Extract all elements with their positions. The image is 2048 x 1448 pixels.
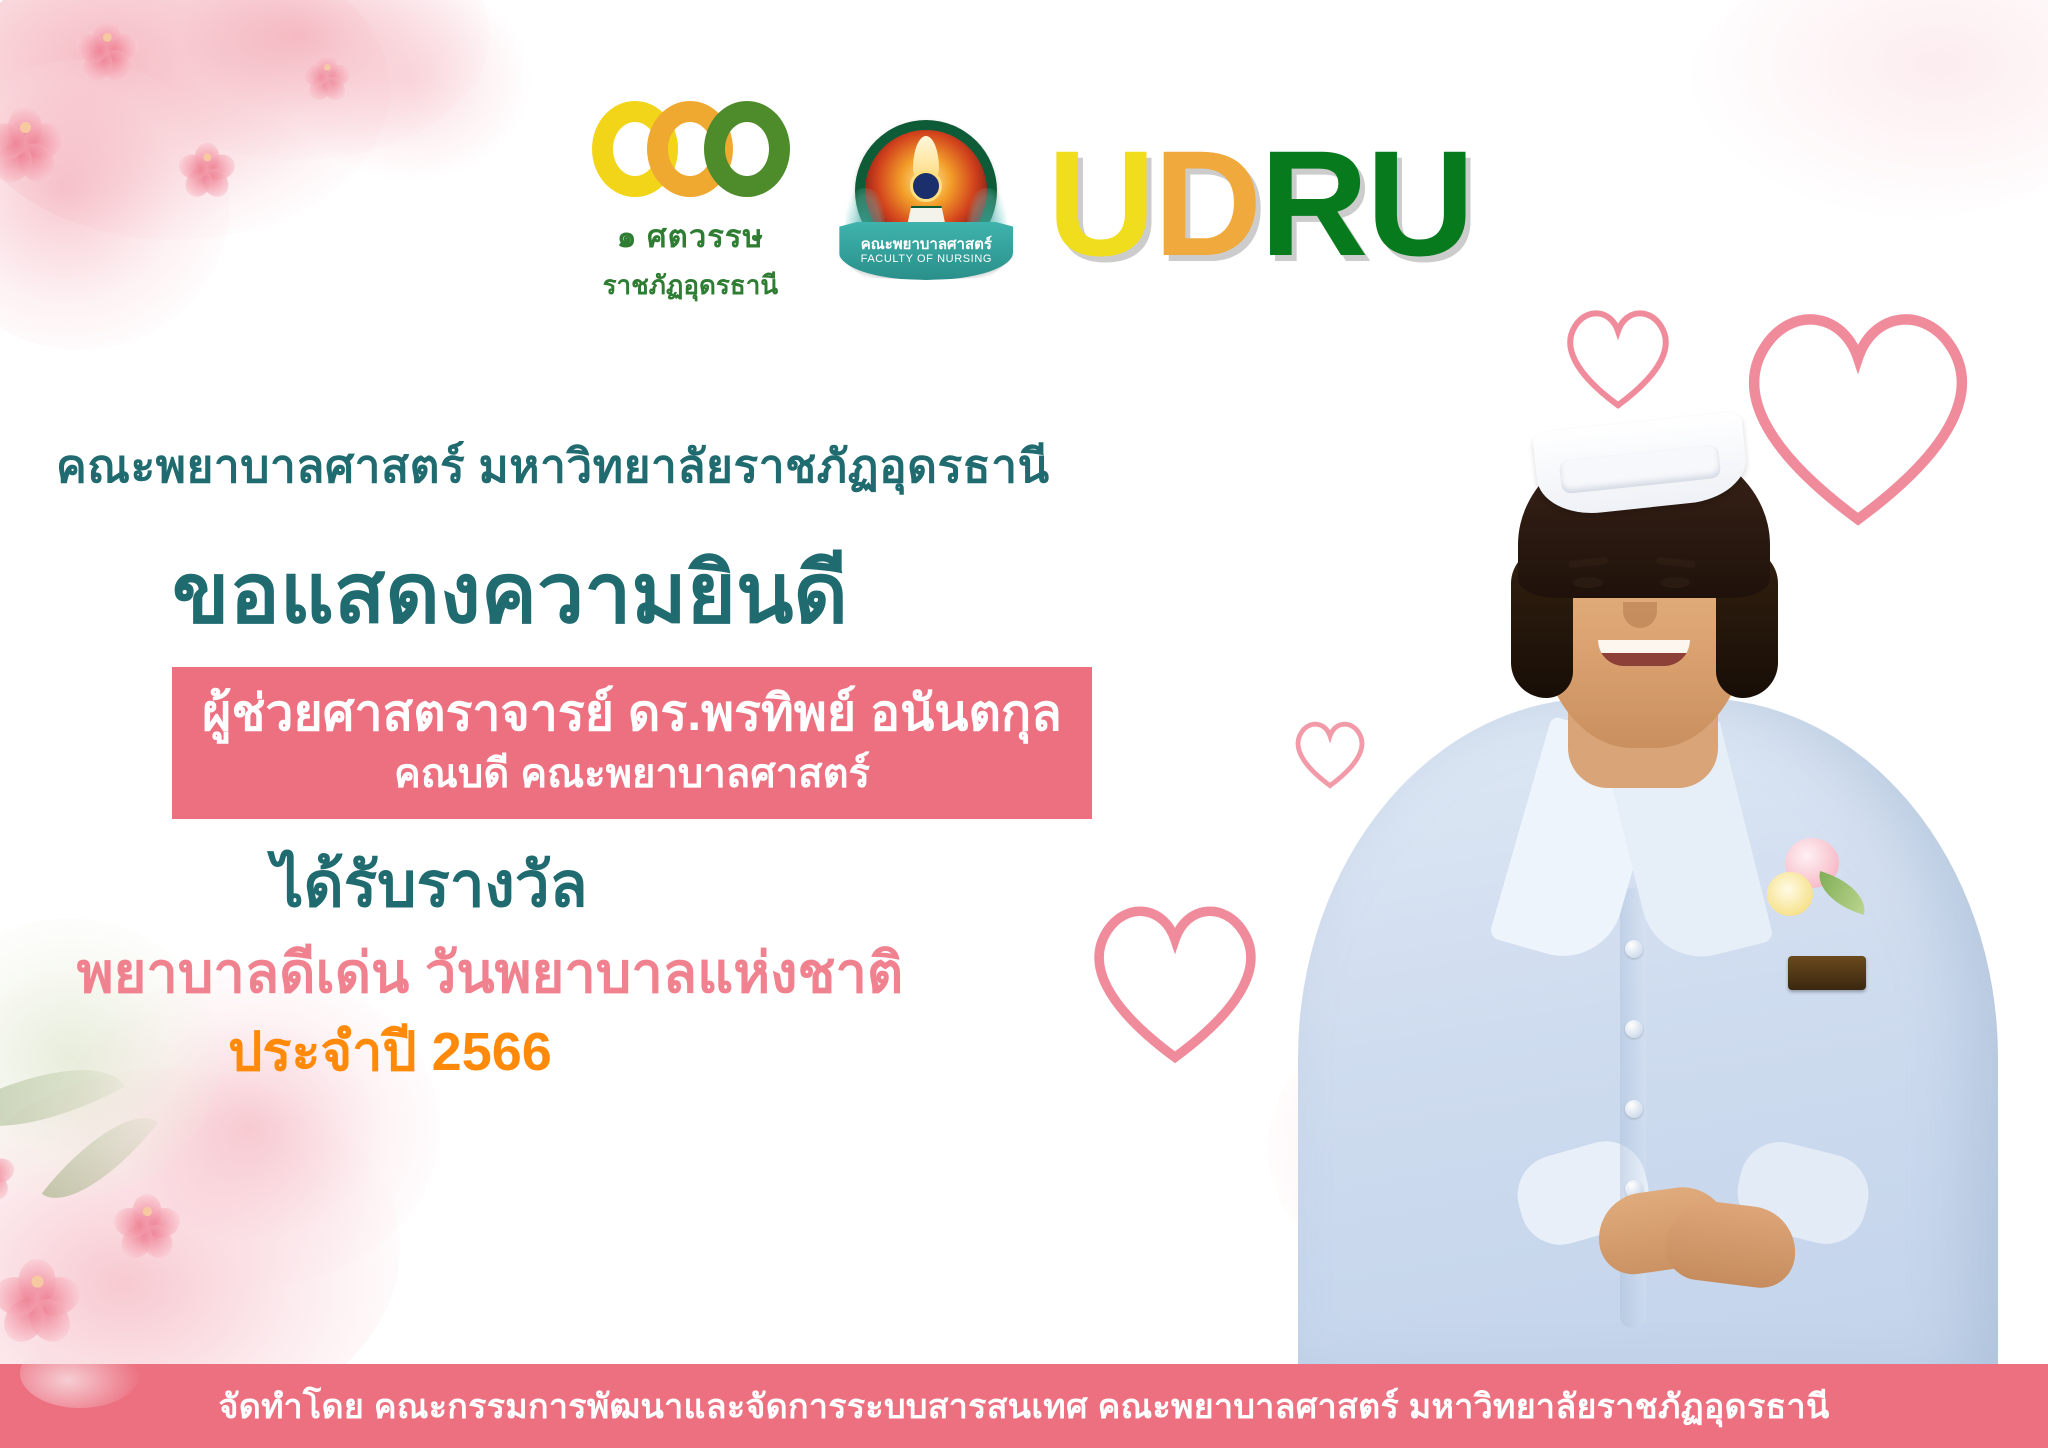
- udru-wordmark: U D R U: [1047, 128, 1472, 278]
- award-year: ประจำปี 2566: [0, 1025, 1160, 1079]
- cherry-blossom-icon: [77, 7, 136, 66]
- faculty-of-nursing-seal: คณะพยาบาลศาสตร์ FACULTY OF NURSING: [841, 118, 1011, 288]
- congratulations-headline: ขอแสดงความยินดี: [0, 551, 1160, 635]
- cherry-blossom-icon: [0, 1135, 13, 1187]
- honoree-title: คณบดี คณะพยาบาลศาสตร์: [172, 751, 1092, 797]
- footer-bar: จัดทำโดย คณะกรรมการพัฒนาและจัดการระบบสาร…: [0, 1364, 2048, 1448]
- honoree-name: ผู้ช่วยศาสตราจารย์ ดร.พรทิพย์ อนันตกุล: [172, 685, 1092, 743]
- logo-header: ๑ ศตวรรษ ราชภัฏอุดรธานี คณะพยาบาลศาสตร์ …: [0, 108, 2048, 298]
- award-label: ได้รับรางวัล: [0, 855, 1160, 917]
- nurse-portrait: [1268, 328, 2028, 1388]
- udru-letter-d: D: [1154, 128, 1260, 278]
- message-block: คณะพยาบาลศาสตร์ มหาวิทยาลัยราชภัฏอุดรธาน…: [0, 430, 1160, 1079]
- udru-letter-r: R: [1260, 128, 1366, 278]
- udru-letter-u2: U: [1366, 128, 1472, 278]
- seal-ribbon: คณะพยาบาลศาสตร์ FACULTY OF NURSING: [839, 222, 1013, 280]
- footer-credit-text: จัดทำโดย คณะกรรมการพัฒนาและจัดการระบบสาร…: [219, 1379, 1830, 1433]
- honoree-banner: ผู้ช่วยศาสตราจารย์ ดร.พรทิพย์ อนันตกุล ค…: [172, 667, 1092, 819]
- faculty-line: คณะพยาบาลศาสตร์ มหาวิทยาลัยราชภัฏอุดรธาน…: [56, 430, 1160, 503]
- cherry-blossom-icon: [305, 45, 349, 89]
- cherry-blossom-icon: [0, 1240, 78, 1321]
- centenary-logo: ๑ ศตวรรษ ราชภัฏอุดรธานี: [575, 101, 805, 306]
- centenary-logo-line2: ราชภัฏอุดรธานี: [603, 265, 779, 306]
- flower-corsage-icon: [1763, 838, 1873, 958]
- cherry-blossom-icon: [116, 1180, 179, 1243]
- poster-canvas: ๑ ศตวรรษ ราชภัฏอุดรธานี คณะพยาบาลศาสตร์ …: [0, 0, 2048, 1448]
- centenary-rings-icon: [592, 101, 788, 197]
- award-name: พยาบาลดีเด่น วันพยาบาลแห่งชาติ: [0, 945, 1160, 1001]
- centenary-logo-line1: ๑ ศตวรรษ: [617, 211, 764, 261]
- seal-ribbon-english: FACULTY OF NURSING: [839, 253, 1013, 265]
- name-badge: [1788, 956, 1866, 990]
- udru-letter-u1: U: [1047, 128, 1153, 278]
